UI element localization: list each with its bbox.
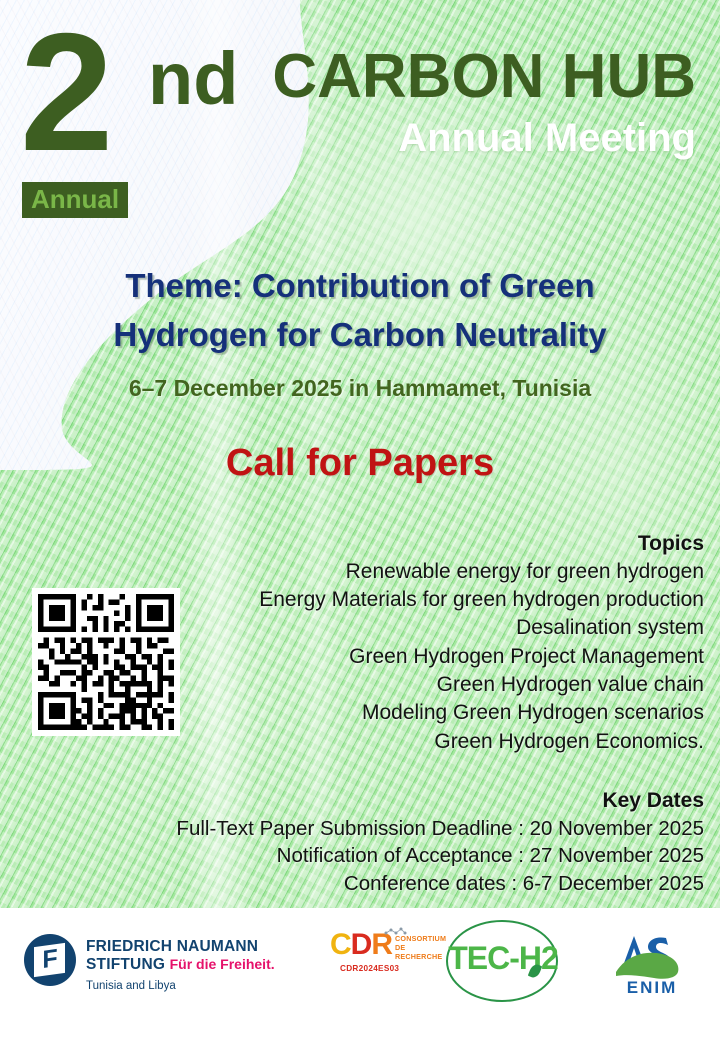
cdr-letter-c: C [330,928,351,961]
fnf-line-2: STIFTUNG Für die Freiheit. [86,956,275,974]
poster-footer: F FRIEDRICH NAUMANN STIFTUNG Für die Fre… [0,908,720,1040]
key-date-item: Conference dates : 6-7 December 2025 [4,870,704,898]
fnf-wordmark: FRIEDRICH NAUMANN STIFTUNG Für die Freih… [86,934,275,992]
key-date-item: Notification of Acceptance : 27 November… [4,842,704,870]
topics-section: Topics Renewable energy for green hydrog… [4,530,704,756]
friedrich-naumann-stiftung-logo: F FRIEDRICH NAUMANN STIFTUNG Für die Fre… [24,934,275,992]
annual-badge: Annual [22,182,128,218]
cdr-letter-d: D [351,928,372,961]
fnf-stiftung: STIFTUNG [86,956,165,973]
call-for-papers-heading: Call for Papers [0,442,720,485]
theme-line-1: Theme: Contribution of Green [0,262,720,311]
topic-item: Green Hydrogen Economics. [4,728,704,756]
key-dates-section: Key Dates Full-Text Paper Submission Dea… [4,787,704,898]
enim-label: ENIM [604,978,700,998]
topic-item: Green Hydrogen Project Management [4,643,704,671]
sponsor-logo-row: F FRIEDRICH NAUMANN STIFTUNG Für die Fre… [0,922,720,1000]
poster-title: CARBON HUB [272,46,696,108]
topic-item: Energy Materials for green hydrogen prod… [4,586,704,614]
fnf-tagline: Für die Freiheit. [170,956,275,972]
tec-h2-logo: TEC-H2 [428,920,578,1006]
as-enim-logo: ENIM [604,928,700,1000]
poster-subtitle: Annual Meeting [398,118,696,158]
topic-item: Renewable energy for green hydrogen [4,558,704,586]
topics-heading: Topics [4,530,704,558]
theme-line-2: Hydrogen for Carbon Neutrality [0,311,720,360]
ordinal-suffix: nd [148,42,238,116]
theme-block: Theme: Contribution of Green Hydrogen fo… [0,262,720,360]
fnf-circle-f-icon: F [24,934,76,986]
fnf-region: Tunisia and Libya [86,980,275,992]
fnf-line-1: FRIEDRICH NAUMANN [86,938,275,956]
topic-item: Modeling Green Hydrogen scenarios [4,699,704,727]
tec-h2-label: TEC-H2 [428,942,578,974]
event-date-location: 6–7 December 2025 in Hammamet, Tunisia [0,375,720,402]
cdr-monogram: CDR [330,930,392,960]
ordinal-number: 2 [20,8,107,176]
poster-canvas: 2 nd Annual CARBON HUB Annual Meeting Th… [0,0,720,1040]
key-dates-heading: Key Dates [4,787,704,815]
key-date-item: Full-Text Paper Submission Deadline : 20… [4,815,704,843]
topic-item: Desalination system [4,614,704,642]
topic-item: Green Hydrogen value chain [4,671,704,699]
poster-header: 2 nd Annual CARBON HUB Annual Meeting [0,0,720,230]
fnf-letter-f: F [24,929,76,988]
cdr-sparkle-icon [382,926,408,938]
